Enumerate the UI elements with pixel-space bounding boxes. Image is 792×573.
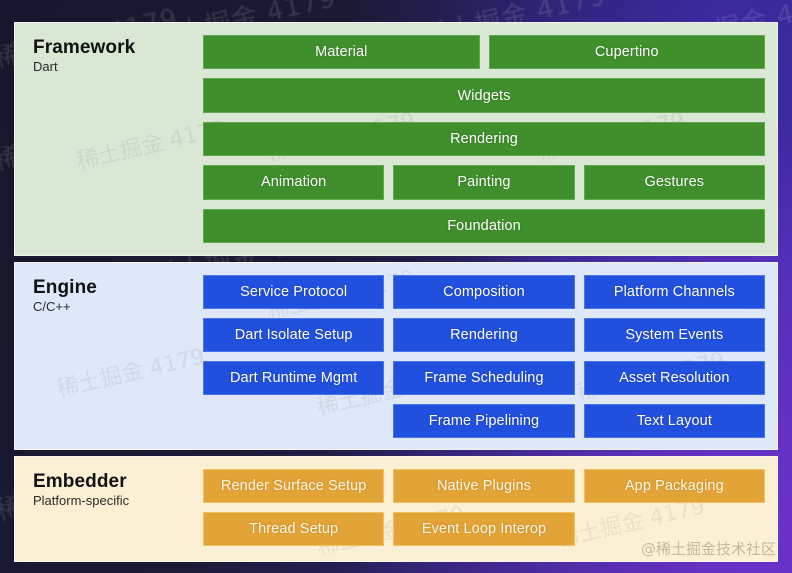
engine-box-asset-resolution[interactable]: Asset Resolution	[584, 361, 765, 395]
architecture-stack: 稀土掘金 4179 稀土掘金 4179 稀土掘金 4179 Framework …	[14, 22, 778, 562]
engine-column: Composition Rendering Frame Scheduling F…	[393, 275, 574, 437]
framework-header: Framework Dart	[15, 23, 203, 255]
framework-row: Widgets	[203, 78, 765, 112]
framework-row: Material Cupertino	[203, 35, 765, 69]
embedder-box-render-surface-setup[interactable]: Render Surface Setup	[203, 469, 384, 503]
embedder-box-app-packaging[interactable]: App Packaging	[584, 469, 765, 503]
layer-framework: 稀土掘金 4179 稀土掘金 4179 稀土掘金 4179 Framework …	[14, 22, 778, 256]
framework-title: Framework	[33, 37, 203, 58]
embedder-box-thread-setup[interactable]: Thread Setup	[203, 512, 384, 546]
embedder-column: Render Surface Setup Thread Setup	[203, 469, 384, 549]
framework-box-animation[interactable]: Animation	[203, 165, 384, 199]
engine-box-dart-isolate-setup[interactable]: Dart Isolate Setup	[203, 318, 384, 352]
engine-box-frame-scheduling[interactable]: Frame Scheduling	[393, 361, 574, 395]
framework-box-material[interactable]: Material	[203, 35, 480, 69]
embedder-column: App Packaging	[584, 469, 765, 549]
engine-box-text-layout[interactable]: Text Layout	[584, 404, 765, 438]
embedder-column: Native Plugins Event Loop Interop	[393, 469, 574, 549]
framework-subtitle: Dart	[33, 59, 203, 74]
engine-header: Engine C/C++	[15, 263, 203, 449]
engine-box-rendering[interactable]: Rendering	[393, 318, 574, 352]
engine-subtitle: C/C++	[33, 299, 203, 314]
framework-box-rendering[interactable]: Rendering	[203, 122, 765, 156]
engine-column: Service Protocol Dart Isolate Setup Dart…	[203, 275, 384, 437]
engine-title: Engine	[33, 277, 203, 298]
embedder-box-native-plugins[interactable]: Native Plugins	[393, 469, 574, 503]
engine-box-platform-channels[interactable]: Platform Channels	[584, 275, 765, 309]
framework-row: Foundation	[203, 209, 765, 243]
engine-box-dart-runtime-mgmt[interactable]: Dart Runtime Mgmt	[203, 361, 384, 395]
framework-box-widgets[interactable]: Widgets	[203, 78, 765, 112]
site-watermark: @稀土掘金技术社区	[641, 538, 776, 559]
engine-box-composition[interactable]: Composition	[393, 275, 574, 309]
framework-box-painting[interactable]: Painting	[393, 165, 574, 199]
engine-body: Service Protocol Dart Isolate Setup Dart…	[203, 263, 777, 449]
framework-row: Rendering	[203, 122, 765, 156]
engine-box-frame-pipelining[interactable]: Frame Pipelining	[393, 404, 574, 438]
engine-box-system-events[interactable]: System Events	[584, 318, 765, 352]
framework-box-cupertino[interactable]: Cupertino	[489, 35, 766, 69]
engine-column: Platform Channels System Events Asset Re…	[584, 275, 765, 437]
framework-body: Material Cupertino Widgets Rendering Ani…	[203, 23, 777, 255]
framework-box-foundation[interactable]: Foundation	[203, 209, 765, 243]
embedder-subtitle: Platform-specific	[33, 493, 203, 508]
framework-row: Animation Painting Gestures	[203, 165, 765, 199]
layer-engine: 稀土掘金 4179 稀土掘金 4179 稀土掘金 4179 稀土掘金 4179 …	[14, 262, 778, 450]
embedder-header: Embedder Platform-specific	[15, 457, 203, 561]
embedder-box-event-loop-interop[interactable]: Event Loop Interop	[393, 512, 574, 546]
framework-box-gestures[interactable]: Gestures	[584, 165, 765, 199]
engine-box-service-protocol[interactable]: Service Protocol	[203, 275, 384, 309]
embedder-title: Embedder	[33, 471, 203, 492]
